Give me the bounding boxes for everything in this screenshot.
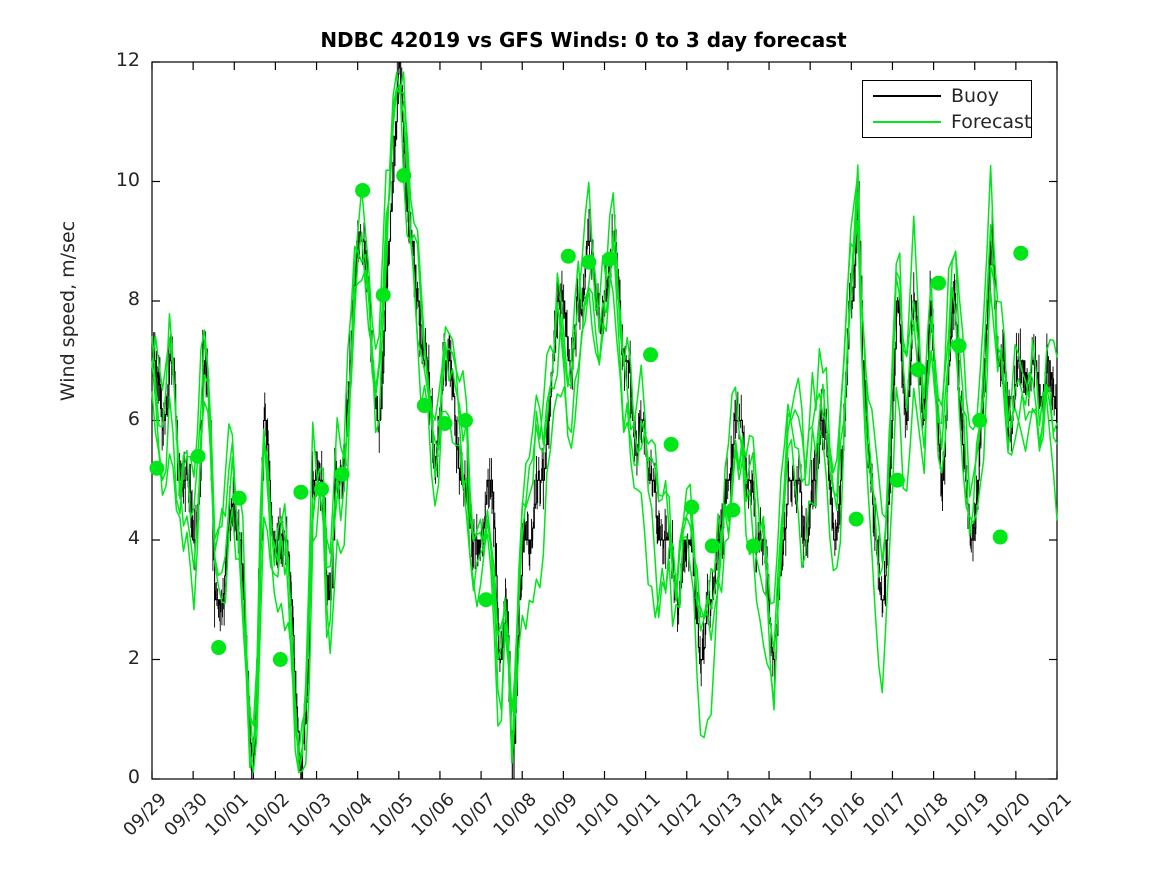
y-tick-label: 6 xyxy=(100,408,140,430)
y-axis-label: Wind speed, m/sec xyxy=(57,191,79,431)
chart-legend: Buoy Forecast xyxy=(862,80,1032,138)
forecast-series-lines xyxy=(152,72,1057,773)
figure-canvas: NDBC 42019 vs GFS Winds: 0 to 3 day fore… xyxy=(0,0,1167,875)
y-tick-label: 12 xyxy=(100,49,140,71)
y-tick-label: 8 xyxy=(100,288,140,310)
legend-label-forecast: Forecast xyxy=(951,109,1031,135)
legend-swatch-buoy xyxy=(873,95,941,97)
legend-label-buoy: Buoy xyxy=(951,83,999,109)
y-tick-label: 0 xyxy=(100,766,140,788)
legend-item-buoy: Buoy xyxy=(863,83,1031,109)
legend-swatch-forecast xyxy=(873,121,941,123)
y-tick-label: 4 xyxy=(100,527,140,549)
y-tick-label: 2 xyxy=(100,647,140,669)
y-tick-label: 10 xyxy=(100,169,140,191)
legend-item-forecast: Forecast xyxy=(863,109,1031,135)
